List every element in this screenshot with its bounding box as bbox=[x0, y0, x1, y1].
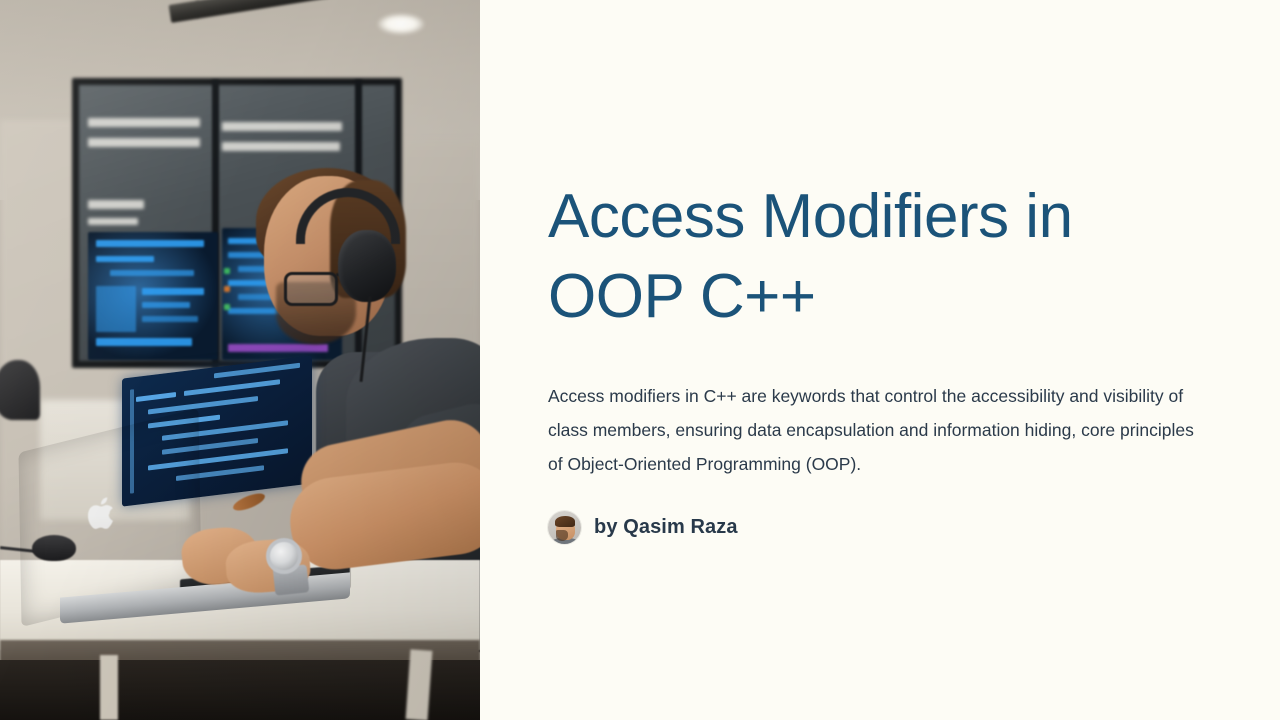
window-blind bbox=[222, 142, 340, 151]
desk-edge bbox=[0, 640, 480, 662]
apple-logo-icon bbox=[88, 496, 118, 530]
hero-photo bbox=[0, 0, 480, 720]
bracelet bbox=[231, 490, 267, 514]
background-monitor-left bbox=[88, 232, 218, 360]
glasses-icon bbox=[284, 272, 338, 306]
author-byline: by Qasim Raza bbox=[548, 511, 1200, 544]
window-blind bbox=[222, 122, 342, 131]
presentation-slide: Access Modifiers in OOP C++ Access modif… bbox=[0, 0, 1280, 720]
slide-title: Access Modifiers in OOP C++ bbox=[548, 177, 1188, 337]
slide-subtitle: Access modifiers in C++ are keywords tha… bbox=[548, 379, 1196, 481]
headphones-earcup bbox=[338, 230, 396, 302]
content-panel: Access Modifiers in OOP C++ Access modif… bbox=[480, 0, 1280, 720]
window-blind bbox=[88, 138, 200, 147]
window-blind bbox=[88, 218, 138, 225]
desk-lamp bbox=[0, 360, 40, 420]
author-name: by Qasim Raza bbox=[594, 516, 738, 539]
ceiling-light-icon bbox=[378, 14, 424, 34]
desk-leg bbox=[100, 655, 118, 720]
author-avatar bbox=[548, 511, 581, 544]
window-blind bbox=[88, 118, 200, 127]
wristwatch-icon bbox=[266, 538, 302, 574]
window-blind bbox=[88, 200, 144, 209]
